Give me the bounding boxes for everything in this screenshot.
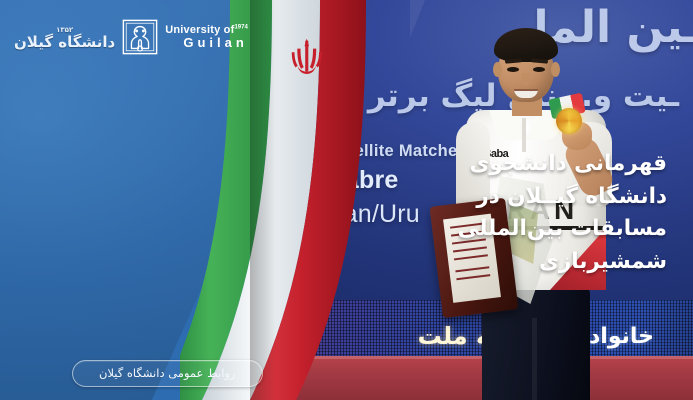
gold-medal <box>556 108 582 134</box>
shirt-placket <box>522 118 526 152</box>
athlete-ear-right <box>551 62 560 77</box>
headline-line-1: قهرمانی دانشجوی <box>429 148 667 181</box>
university-logo[interactable]: ۱۳۵۲ دانشگاه گیلان University of1974 Gui… <box>14 18 248 56</box>
athlete-eye-left <box>507 67 519 72</box>
news-banner: ـین الملـ ـیت و...نال لیگ برتر Satellite… <box>0 0 693 400</box>
logo-persian-name: ۱۳۵۲ دانشگاه گیلان <box>14 27 115 50</box>
backdrop-english-line-2: Sabre <box>328 166 398 195</box>
athlete-hair <box>494 28 558 62</box>
logo-english-line-1-text: University of <box>165 24 234 36</box>
athlete-ear-left <box>493 62 502 77</box>
headline-line-2: دانشگاه گیــلان در <box>429 181 667 214</box>
headline-line-3: مسابقات بین‌المللی <box>429 213 667 246</box>
logo-persian-name-text: دانشگاه گیلان <box>14 33 115 51</box>
backdrop-english-line-3: Iran/Uru <box>328 200 420 229</box>
headline: قهرمانی دانشجوی دانشگاه گیــلان در مسابق… <box>429 148 667 279</box>
logo-english-name: University of1974 Guilan <box>165 24 248 51</box>
athlete-nose <box>522 73 530 86</box>
headline-line-4: شمشیربازی <box>429 246 667 279</box>
public-relations-badge[interactable]: روابط عمومی دانشگاه گیلان <box>72 360 263 387</box>
athlete-eye-right <box>533 67 545 72</box>
logo-founding-year: 1974 <box>234 24 247 30</box>
guilan-crest-icon <box>121 18 159 56</box>
logo-english-line-2: Guilan <box>165 36 248 51</box>
